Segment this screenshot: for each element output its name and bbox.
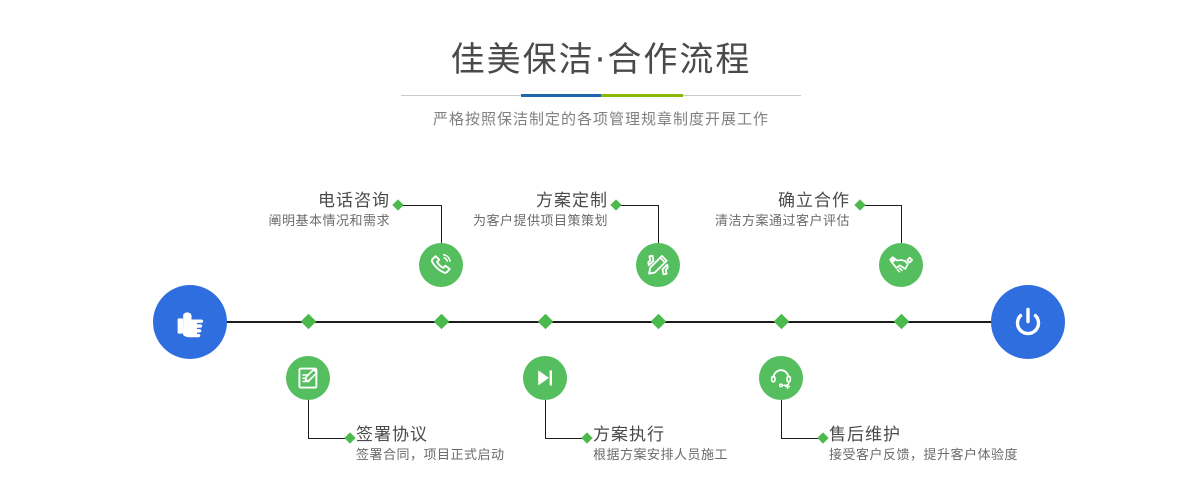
step-label-4: 方案执行 根据方案安排人员施工	[593, 424, 853, 466]
title-divider	[401, 94, 801, 97]
step-label-3: 方案定制 为客户提供项目策策划	[368, 190, 608, 232]
step-title-5: 确立合作	[610, 190, 850, 212]
step-label-1: 电话咨询 阐明基本情况和需求	[150, 190, 390, 232]
step-label-5: 确立合作 清洁方案通过客户评估	[610, 190, 850, 232]
timeline-marker-3	[651, 314, 667, 330]
divider-segment-green	[601, 94, 683, 97]
step-title-6: 售后维护	[829, 424, 1129, 446]
connector-2-vertical	[308, 400, 309, 438]
step-node-4[interactable]	[523, 356, 567, 400]
step-desc-3: 为客户提供项目策策划	[368, 212, 608, 232]
step-desc-2: 签署合同，项目正式启动	[356, 446, 616, 466]
timeline-marker-4	[538, 314, 554, 330]
step-node-2[interactable]	[286, 356, 330, 400]
connector-5-tip	[854, 199, 865, 210]
flow-end-node[interactable]	[991, 285, 1065, 359]
step-label-6: 售后维护 接受客户反馈，提升客户体验度	[829, 424, 1129, 466]
step-node-5[interactable]	[879, 243, 923, 287]
timeline-marker-2	[301, 314, 317, 330]
step-node-6[interactable]	[759, 356, 803, 400]
thumbs-up-icon	[170, 302, 210, 342]
connector-5-vertical	[901, 205, 902, 243]
timeline-marker-6	[774, 314, 790, 330]
step-desc-1: 阐明基本情况和需求	[150, 212, 390, 232]
timeline-marker-1	[434, 314, 450, 330]
step-title-1: 电话咨询	[150, 190, 390, 212]
step-title-3: 方案定制	[368, 190, 608, 212]
timeline-marker-5	[894, 314, 910, 330]
step-desc-4: 根据方案安排人员施工	[593, 446, 853, 466]
step-node-3[interactable]	[636, 243, 680, 287]
step-title-4: 方案执行	[593, 424, 853, 446]
flow-start-node[interactable]	[153, 285, 227, 359]
step-desc-6: 接受客户反馈，提升客户体验度	[829, 446, 1129, 466]
process-flow-infographic: 佳美保洁·合作流程 严格按照保洁制定的各项管理规章制度开展工作	[0, 0, 1202, 502]
customer-service-add-icon	[768, 365, 794, 391]
play-execute-icon	[532, 365, 558, 391]
step-node-1[interactable]	[419, 243, 463, 287]
step-title-2: 签署协议	[356, 424, 616, 446]
phone-call-icon	[428, 252, 454, 278]
power-icon	[1008, 302, 1048, 342]
connector-6-vertical	[781, 400, 782, 438]
step-desc-5: 清洁方案通过客户评估	[610, 212, 850, 232]
connector-5-horizontal	[860, 205, 902, 206]
document-edit-icon	[295, 365, 321, 391]
divider-segment-blue	[521, 94, 601, 97]
pencil-ruler-icon	[645, 252, 671, 278]
step-label-2: 签署协议 签署合同，项目正式启动	[356, 424, 616, 466]
page-subtitle: 严格按照保洁制定的各项管理规章制度开展工作	[0, 108, 1202, 129]
connector-2-tip	[344, 432, 355, 443]
connector-4-vertical	[545, 400, 546, 438]
page-title: 佳美保洁·合作流程	[0, 40, 1202, 80]
handshake-icon	[888, 252, 914, 278]
